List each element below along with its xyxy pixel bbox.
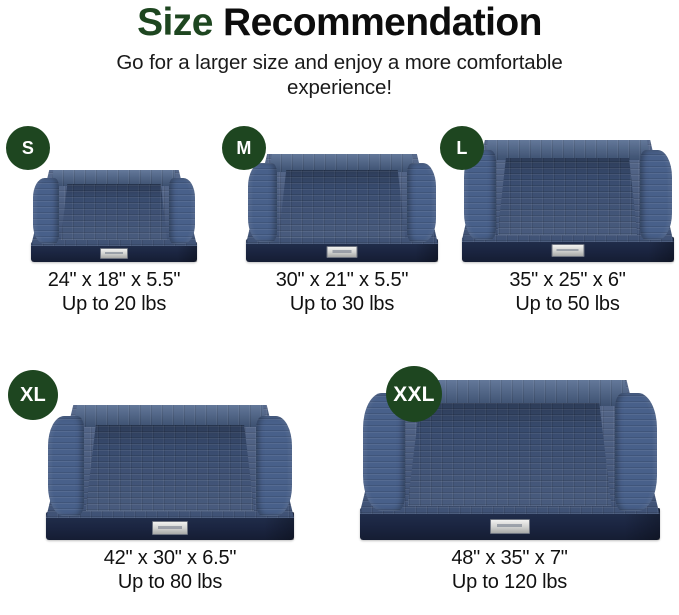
size-caption-m: 30" x 21" x 5.5" Up to 30 lbs bbox=[276, 268, 409, 316]
brand-label-tag bbox=[551, 244, 584, 257]
size-row-bottom: XL 42" x 30" x 6.5" Up to 80 lbs XXL bbox=[0, 362, 679, 594]
bed-sleeping-surface bbox=[498, 158, 638, 235]
bed-backrest-bolster bbox=[73, 405, 266, 427]
brand-label-tag bbox=[490, 519, 530, 534]
dimensions-text: 30" x 21" x 5.5" bbox=[276, 268, 409, 292]
brand-label-tag bbox=[327, 246, 358, 258]
dimensions-text: 42" x 30" x 6.5" bbox=[104, 546, 237, 570]
size-card-xxl: XXL 48" x 35" x 7" Up to 120 lbs bbox=[340, 362, 679, 594]
bed-area-l bbox=[456, 126, 679, 262]
dimensions-text: 24" x 18" x 5.5" bbox=[48, 268, 181, 292]
page-title-green-word: Size bbox=[137, 1, 213, 44]
size-card-xl: XL 42" x 30" x 6.5" Up to 80 lbs bbox=[0, 362, 340, 594]
dog-bed-small bbox=[31, 170, 197, 262]
bed-left-bolster-arm bbox=[48, 416, 84, 516]
size-badge-xxl: XXL bbox=[386, 366, 442, 422]
bed-backrest-bolster bbox=[269, 154, 415, 172]
subtitle: Go for a larger size and enjoy a more co… bbox=[105, 50, 575, 100]
weight-text: Up to 80 lbs bbox=[104, 570, 237, 594]
bed-left-bolster-arm bbox=[248, 163, 277, 242]
dimensions-text: 35" x 25" x 6" bbox=[509, 268, 625, 292]
bed-right-bolster-arm bbox=[169, 178, 195, 244]
page-title: Size Recommendation bbox=[0, 2, 679, 44]
dog-bed-xlarge bbox=[46, 405, 294, 540]
dimensions-text: 48" x 35" x 7" bbox=[451, 546, 567, 570]
dog-bed-medium bbox=[246, 154, 438, 262]
header: Size Recommendation Go for a larger size… bbox=[0, 0, 679, 100]
brand-label-tag bbox=[100, 248, 128, 259]
size-badge-s: S bbox=[6, 126, 50, 170]
size-card-l: L 35" x 25" x 6" Up to 50 lbs bbox=[456, 126, 679, 316]
weight-text: Up to 120 lbs bbox=[451, 570, 567, 594]
bed-sleeping-surface bbox=[86, 425, 255, 511]
size-badge-l: L bbox=[440, 126, 484, 170]
bed-right-bolster-arm bbox=[640, 150, 672, 240]
size-badge-l-label: L bbox=[456, 139, 467, 157]
brand-label-tag bbox=[152, 521, 188, 535]
size-badge-xl-label: XL bbox=[20, 385, 46, 405]
bed-backrest-bolster bbox=[51, 170, 177, 186]
bed-right-bolster-arm bbox=[615, 393, 657, 511]
size-card-s: S 24" x 18" x 5.5" Up to 20 lbs bbox=[0, 126, 228, 316]
weight-text: Up to 20 lbs bbox=[48, 292, 181, 316]
size-badge-s-label: S bbox=[22, 139, 34, 157]
bed-left-bolster-arm bbox=[33, 178, 59, 244]
size-badge-m: M bbox=[222, 126, 266, 170]
bed-sleeping-surface bbox=[408, 403, 612, 506]
bed-right-bolster-arm bbox=[407, 163, 436, 242]
bed-sleeping-surface bbox=[279, 170, 406, 238]
size-badge-xl: XL bbox=[8, 370, 58, 420]
size-row-top: S 24" x 18" x 5.5" Up to 20 lbs M bbox=[0, 126, 679, 316]
dog-bed-large bbox=[462, 140, 674, 262]
bed-backrest-bolster bbox=[485, 140, 650, 160]
size-card-m: M 30" x 21" x 5.5" Up to 30 lbs bbox=[228, 126, 456, 316]
size-badge-xxl-label: XXL bbox=[393, 384, 434, 405]
bed-right-bolster-arm bbox=[256, 416, 292, 516]
bed-sleeping-surface bbox=[61, 184, 167, 240]
size-caption-l: 35" x 25" x 6" Up to 50 lbs bbox=[509, 268, 625, 316]
page-title-black-word: Recommendation bbox=[223, 1, 542, 44]
weight-text: Up to 30 lbs bbox=[276, 292, 409, 316]
size-badge-m-label: M bbox=[236, 139, 251, 157]
size-caption-xl: 42" x 30" x 6.5" Up to 80 lbs bbox=[104, 546, 237, 594]
weight-text: Up to 50 lbs bbox=[509, 292, 625, 316]
size-caption-xxl: 48" x 35" x 7" Up to 120 lbs bbox=[451, 546, 567, 594]
size-caption-s: 24" x 18" x 5.5" Up to 20 lbs bbox=[48, 268, 181, 316]
